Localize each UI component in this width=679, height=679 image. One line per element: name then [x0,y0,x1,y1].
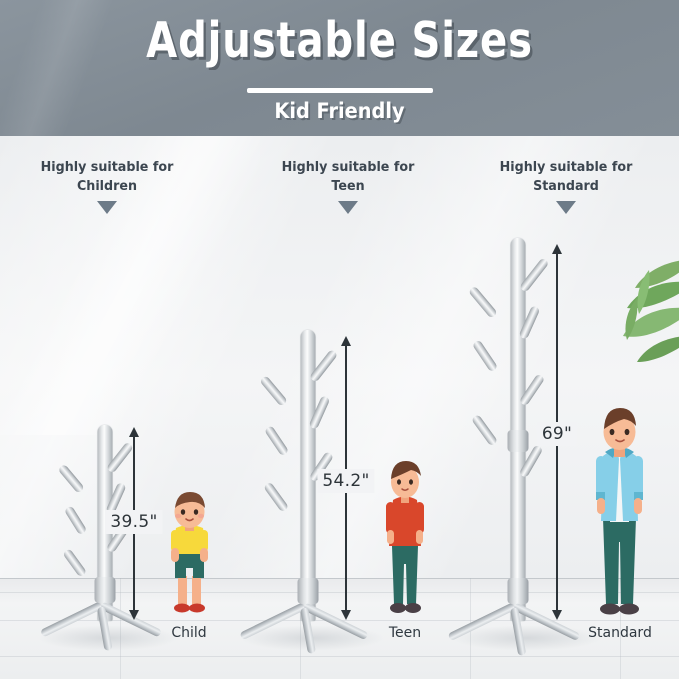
heading-line-1: Highly suitable for [249,158,446,177]
column-heading-teen: Highly suitable for Teen [243,158,453,214]
rack-hook [57,464,84,494]
person-standard [580,404,658,620]
dimension-standard: 69" [556,244,558,620]
rack-collar [508,430,529,452]
page-title: Adjustable Sizes [61,12,618,70]
dimension-value: 69" [537,422,577,446]
rack-hook [62,548,87,578]
dimension-child: 39.5" [133,427,135,620]
person-teen [372,458,438,620]
rack-hook [471,414,498,447]
heading-line-2: Children [8,177,205,196]
triangle-down-icon [556,201,576,214]
rack-hook [264,425,289,457]
plant-decoration [593,252,679,392]
rack-hook [64,505,88,535]
rack-hook [259,375,288,407]
title-divider [247,88,433,93]
header-band: Adjustable Sizes Kid Friendly [0,0,679,136]
column-heading-child: Highly suitable for Children [2,158,212,214]
dimension-value: 39.5" [105,510,162,534]
rack-hook [263,481,289,512]
dimension-value: 54.2" [317,469,374,493]
heading-line-2: Teen [249,177,446,196]
heading-line-1: Highly suitable for [467,158,664,177]
column-heading-standard: Highly suitable for Standard [461,158,671,214]
person-caption-standard: Standard [560,625,679,641]
infographic-canvas: Adjustable Sizes Kid Friendly Highly sui… [0,0,679,679]
dimension-teen: 54.2" [345,336,347,620]
rack-collar [95,577,116,603]
person-caption-teen: Teen [345,625,465,641]
rack-collar [298,578,319,604]
rack-collar [508,578,529,604]
triangle-down-icon [338,201,358,214]
person-child [156,490,222,620]
heading-line-2: Standard [467,177,664,196]
rack-hook [468,286,498,319]
heading-line-1: Highly suitable for [8,158,205,177]
person-caption-child: Child [129,625,249,641]
page-subtitle: Kid Friendly [27,99,652,123]
rack-hook [472,339,498,372]
triangle-down-icon [97,201,117,214]
